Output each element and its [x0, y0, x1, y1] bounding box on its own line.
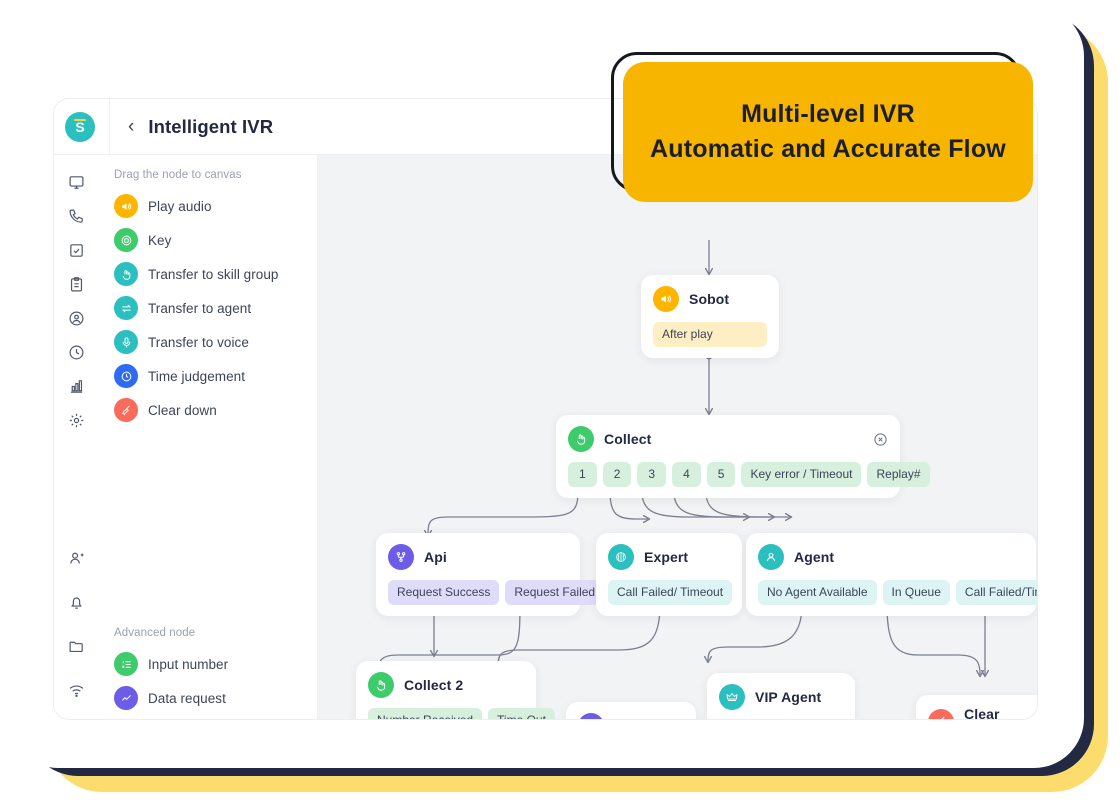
flow-node-title: Collect 2 [404, 677, 463, 693]
port-call-failed-timeout[interactable]: Call Failed/Timeout [956, 580, 1038, 605]
page-root: S ‹ Intelligent IVR [0, 0, 1120, 800]
port-1[interactable]: 1 [568, 462, 597, 487]
header-divider [109, 99, 110, 155]
flow-node-ports: Request Success Request Failed [388, 580, 568, 605]
callout-line-1: Multi-level IVR [741, 97, 915, 133]
close-icon[interactable] [873, 432, 888, 447]
flow-node-header: VIP Agent [719, 684, 843, 710]
callout-banner: Multi-level IVR Automatic and Accurate F… [623, 62, 1033, 202]
palette-item-transfer-agent[interactable]: Transfer to agent [114, 291, 317, 325]
hand-icon [368, 672, 394, 698]
port-no-agent-available[interactable]: No Agent Available [758, 580, 877, 605]
phone-icon[interactable] [65, 205, 87, 227]
port-call-failed-timeout[interactable]: Call Failed/ Timeout [608, 580, 732, 605]
bell-icon[interactable] [65, 591, 87, 613]
clock-icon[interactable] [65, 341, 87, 363]
badge-check-icon [578, 713, 604, 720]
flow-node-title: Expert [644, 549, 688, 565]
flow-node-header: Sobot [653, 286, 767, 312]
palette-item-label: Data request [148, 691, 226, 706]
flow-node-ports: No Agent Available In Queue Call Failed/… [758, 580, 1024, 605]
flow-node-ports: Call Failed/ Timeout [608, 580, 730, 605]
flow-node-header: Clear Down [928, 706, 1038, 720]
port-in-queue[interactable]: In Queue [883, 580, 950, 605]
port-key-error-timeout[interactable]: Key error / Timeout [741, 462, 861, 487]
brand-logo[interactable]: S [65, 112, 95, 142]
port-time-out[interactable]: Time Out [488, 708, 555, 720]
flow-node-header: Collect [568, 426, 888, 452]
bar-chart-icon[interactable] [65, 375, 87, 397]
speaker-icon [653, 286, 679, 312]
port-2[interactable]: 2 [603, 462, 632, 487]
palette-item-label: Transfer to agent [148, 301, 251, 316]
chart-line-icon [114, 686, 138, 710]
crown-icon [719, 684, 745, 710]
palette-item-assignment-node[interactable]: Assignment node [114, 715, 314, 720]
palette-item-label: Play audio [148, 199, 212, 214]
palette-item-label: Time judgement [148, 369, 245, 384]
flow-node-header: Api [388, 544, 568, 570]
palette-item-input-number[interactable]: Input number [114, 647, 314, 681]
flow-node-title: Api [424, 549, 447, 565]
flow-canvas[interactable]: Sobot After play Collect [318, 155, 1038, 720]
flow-node-header: Expert [608, 544, 730, 570]
palette-item-key[interactable]: Key [114, 223, 317, 257]
advanced-palette-caption: Advanced node [114, 627, 314, 639]
flow-node-sobot[interactable]: Sobot After play [641, 275, 779, 358]
palette-item-label: Transfer to voice [148, 335, 249, 350]
user-plus-icon[interactable] [65, 547, 87, 569]
checkbox-icon[interactable] [65, 239, 87, 261]
palette-item-data-request[interactable]: Data request [114, 681, 314, 715]
clock-icon [114, 364, 138, 388]
keypad-icon [114, 228, 138, 252]
brand-logo-letter: S [75, 119, 84, 135]
flow-node-header: Verify [578, 713, 684, 720]
flow-node-title: Sobot [689, 291, 729, 307]
flow-node-vip-agent[interactable]: VIP Agent Call Failed/ Timeout [707, 673, 855, 720]
broom-icon [114, 398, 138, 422]
icon-rail [54, 155, 98, 720]
flow-node-ports: Number Received Time Out [368, 708, 524, 720]
palette-item-time-judgement[interactable]: Time judgement [114, 359, 317, 393]
palette-caption: Drag the node to canvas [114, 169, 317, 181]
palette-item-transfer-voice[interactable]: Transfer to voice [114, 325, 317, 359]
list-number-icon [114, 652, 138, 676]
palette-item-label: Transfer to skill group [148, 267, 278, 282]
palette-item-label: Input number [148, 657, 228, 672]
user-circle-icon[interactable] [65, 307, 87, 329]
flow-node-collect[interactable]: Collect 1 2 3 4 5 Key error / Timeout Re… [556, 415, 900, 498]
flow-node-title: Verify [614, 718, 653, 720]
flow-node-collect-2[interactable]: Collect 2 Number Received Time Out [356, 661, 536, 720]
mic-icon [114, 330, 138, 354]
palette-item-label: Clear down [148, 403, 217, 418]
flow-node-ports: After play [653, 322, 767, 347]
flow-node-agent[interactable]: Agent No Agent Available In Queue Call F… [746, 533, 1036, 616]
clipboard-icon[interactable] [65, 273, 87, 295]
port-replay[interactable]: Replay# [867, 462, 929, 487]
port-5[interactable]: 5 [707, 462, 736, 487]
back-button[interactable]: ‹ [128, 117, 134, 136]
gear-icon[interactable] [65, 409, 87, 431]
port-request-success[interactable]: Request Success [388, 580, 499, 605]
user-icon [758, 544, 784, 570]
flow-node-title: VIP Agent [755, 689, 821, 705]
flow-node-title: Agent [794, 549, 834, 565]
flow-node-title: Collect [604, 431, 651, 447]
flow-node-api[interactable]: Api Request Success Request Failed [376, 533, 580, 616]
branch-icon [388, 544, 414, 570]
flow-node-title: Clear Down [964, 706, 1038, 720]
broom-icon [928, 709, 954, 720]
flow-node-ports: 1 2 3 4 5 Key error / Timeout Replay# [568, 462, 888, 487]
wifi-icon[interactable] [65, 679, 87, 701]
palette-item-clear-down[interactable]: Clear down [114, 393, 317, 427]
flow-node-verify[interactable]: Verify After Assignment [566, 702, 696, 720]
monitor-icon[interactable] [65, 171, 87, 193]
callout-line-2: Automatic and Accurate Flow [650, 132, 1006, 168]
port-3[interactable]: 3 [637, 462, 666, 487]
hand-icon [114, 262, 138, 286]
folder-icon[interactable] [65, 635, 87, 657]
port-number-received[interactable]: Number Received [368, 708, 482, 720]
flow-node-expert[interactable]: Expert Call Failed/ Timeout [596, 533, 742, 616]
port-request-failed[interactable]: Request Failed [505, 580, 604, 605]
flow-node-header: Collect 2 [368, 672, 524, 698]
port-4[interactable]: 4 [672, 462, 701, 487]
hand-icon [568, 426, 594, 452]
flow-node-clear-down[interactable]: Clear Down [916, 695, 1038, 720]
advanced-node-palette: Advanced node Input number Data request … [114, 627, 314, 720]
page-title: Intelligent IVR [148, 116, 273, 138]
speaker-icon [114, 194, 138, 218]
brain-icon [608, 544, 634, 570]
palette-item-play-audio[interactable]: Play audio [114, 189, 317, 223]
port-after-play[interactable]: After play [653, 322, 767, 347]
palette-item-label: Key [148, 233, 171, 248]
flow-node-header: Agent [758, 544, 1024, 570]
palette-item-transfer-skill-group[interactable]: Transfer to skill group [114, 257, 317, 291]
swap-icon [114, 296, 138, 320]
